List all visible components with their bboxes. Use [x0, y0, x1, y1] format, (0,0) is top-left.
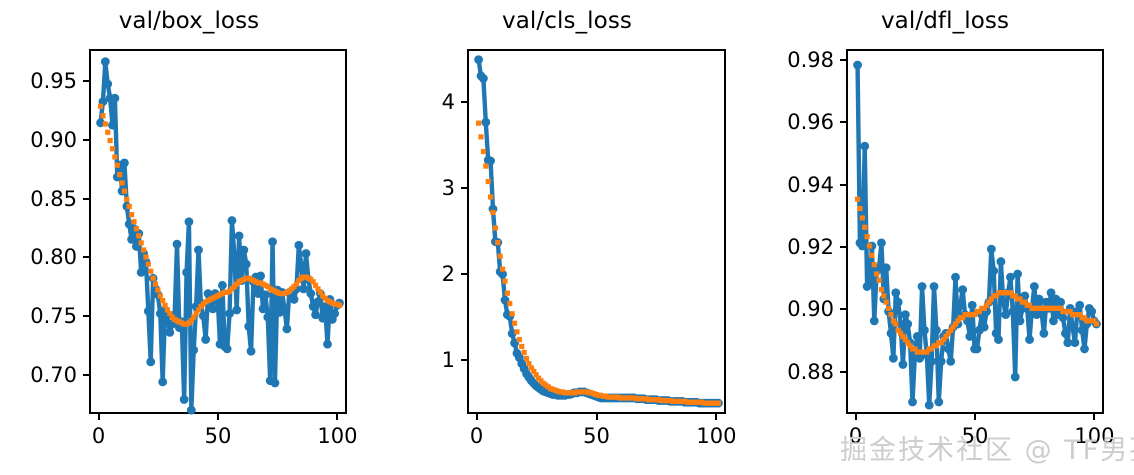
y-tick-mark — [83, 139, 89, 141]
x-tick-label: 0 — [849, 424, 862, 448]
x-tick-label: 50 — [205, 424, 232, 448]
plot-area — [469, 51, 728, 416]
x-tick-label: 100 — [1074, 424, 1114, 448]
y-tick-label: 1 — [365, 348, 455, 372]
y-tick-label: 0.98 — [744, 48, 834, 72]
data-series — [853, 61, 1101, 410]
x-tick-label: 50 — [962, 424, 989, 448]
subplot-val-cls-loss: val/cls_loss 1234 050100 — [378, 0, 756, 475]
y-tick-mark — [461, 187, 467, 189]
y-tick-label: 0.96 — [744, 110, 834, 134]
axes-frame — [467, 49, 726, 414]
y-tick-mark — [83, 315, 89, 317]
x-tick-mark — [715, 414, 717, 420]
y-tick-mark — [840, 121, 846, 123]
y-tick-label: 0.95 — [0, 69, 77, 93]
y-tick-mark — [840, 184, 846, 186]
x-tick-mark — [596, 414, 598, 420]
subplot-val-dfl-loss: val/dfl_loss 0.880.900.920.940.960.98 05… — [756, 0, 1134, 475]
y-tick-label: 0.75 — [0, 304, 77, 328]
smoothed-series — [476, 121, 721, 406]
plot-area — [848, 51, 1106, 416]
y-tick-label: 0.90 — [0, 128, 77, 152]
x-tick-label: 0 — [470, 424, 483, 448]
figure-canvas: val/box_loss 0.700.750.800.850.900.95 05… — [0, 0, 1134, 475]
x-tick-mark — [336, 414, 338, 420]
y-tick-label: 2 — [365, 262, 455, 286]
panel-title: val/cls_loss — [378, 8, 756, 34]
y-tick-label: 0.92 — [744, 235, 834, 259]
y-tick-label: 0.90 — [744, 297, 834, 321]
smoothed-series — [98, 104, 342, 327]
y-tick-label: 3 — [365, 176, 455, 200]
x-tick-mark — [476, 414, 478, 420]
x-tick-mark — [1093, 414, 1095, 420]
smoothed-series — [855, 197, 1099, 355]
y-tick-mark — [840, 59, 846, 61]
y-tick-label: 0.70 — [0, 363, 77, 387]
axes-frame — [89, 49, 347, 414]
y-tick-mark — [83, 256, 89, 258]
y-tick-mark — [840, 308, 846, 310]
y-tick-mark — [461, 273, 467, 275]
y-tick-label: 0.85 — [0, 187, 77, 211]
subplot-val-box-loss: val/box_loss 0.700.750.800.850.900.95 05… — [0, 0, 378, 475]
x-tick-label: 0 — [92, 424, 105, 448]
y-tick-mark — [840, 371, 846, 373]
y-tick-mark — [83, 374, 89, 376]
y-tick-label: 4 — [365, 90, 455, 114]
panel-title: val/box_loss — [0, 8, 378, 34]
x-tick-mark — [974, 414, 976, 420]
x-tick-label: 100 — [317, 424, 357, 448]
y-tick-label: 0.80 — [0, 245, 77, 269]
x-tick-mark — [98, 414, 100, 420]
x-tick-mark — [217, 414, 219, 420]
x-tick-label: 100 — [696, 424, 736, 448]
y-tick-mark — [461, 101, 467, 103]
data-series — [96, 57, 344, 414]
y-tick-label: 0.88 — [744, 360, 834, 384]
y-tick-label: 0.94 — [744, 173, 834, 197]
data-series — [474, 55, 723, 407]
y-tick-mark — [840, 246, 846, 248]
y-tick-mark — [83, 80, 89, 82]
y-tick-mark — [461, 359, 467, 361]
x-tick-mark — [855, 414, 857, 420]
plot-area — [91, 51, 349, 416]
panel-title: val/dfl_loss — [756, 8, 1134, 34]
y-tick-mark — [83, 198, 89, 200]
x-tick-label: 50 — [583, 424, 610, 448]
axes-frame — [846, 49, 1104, 414]
